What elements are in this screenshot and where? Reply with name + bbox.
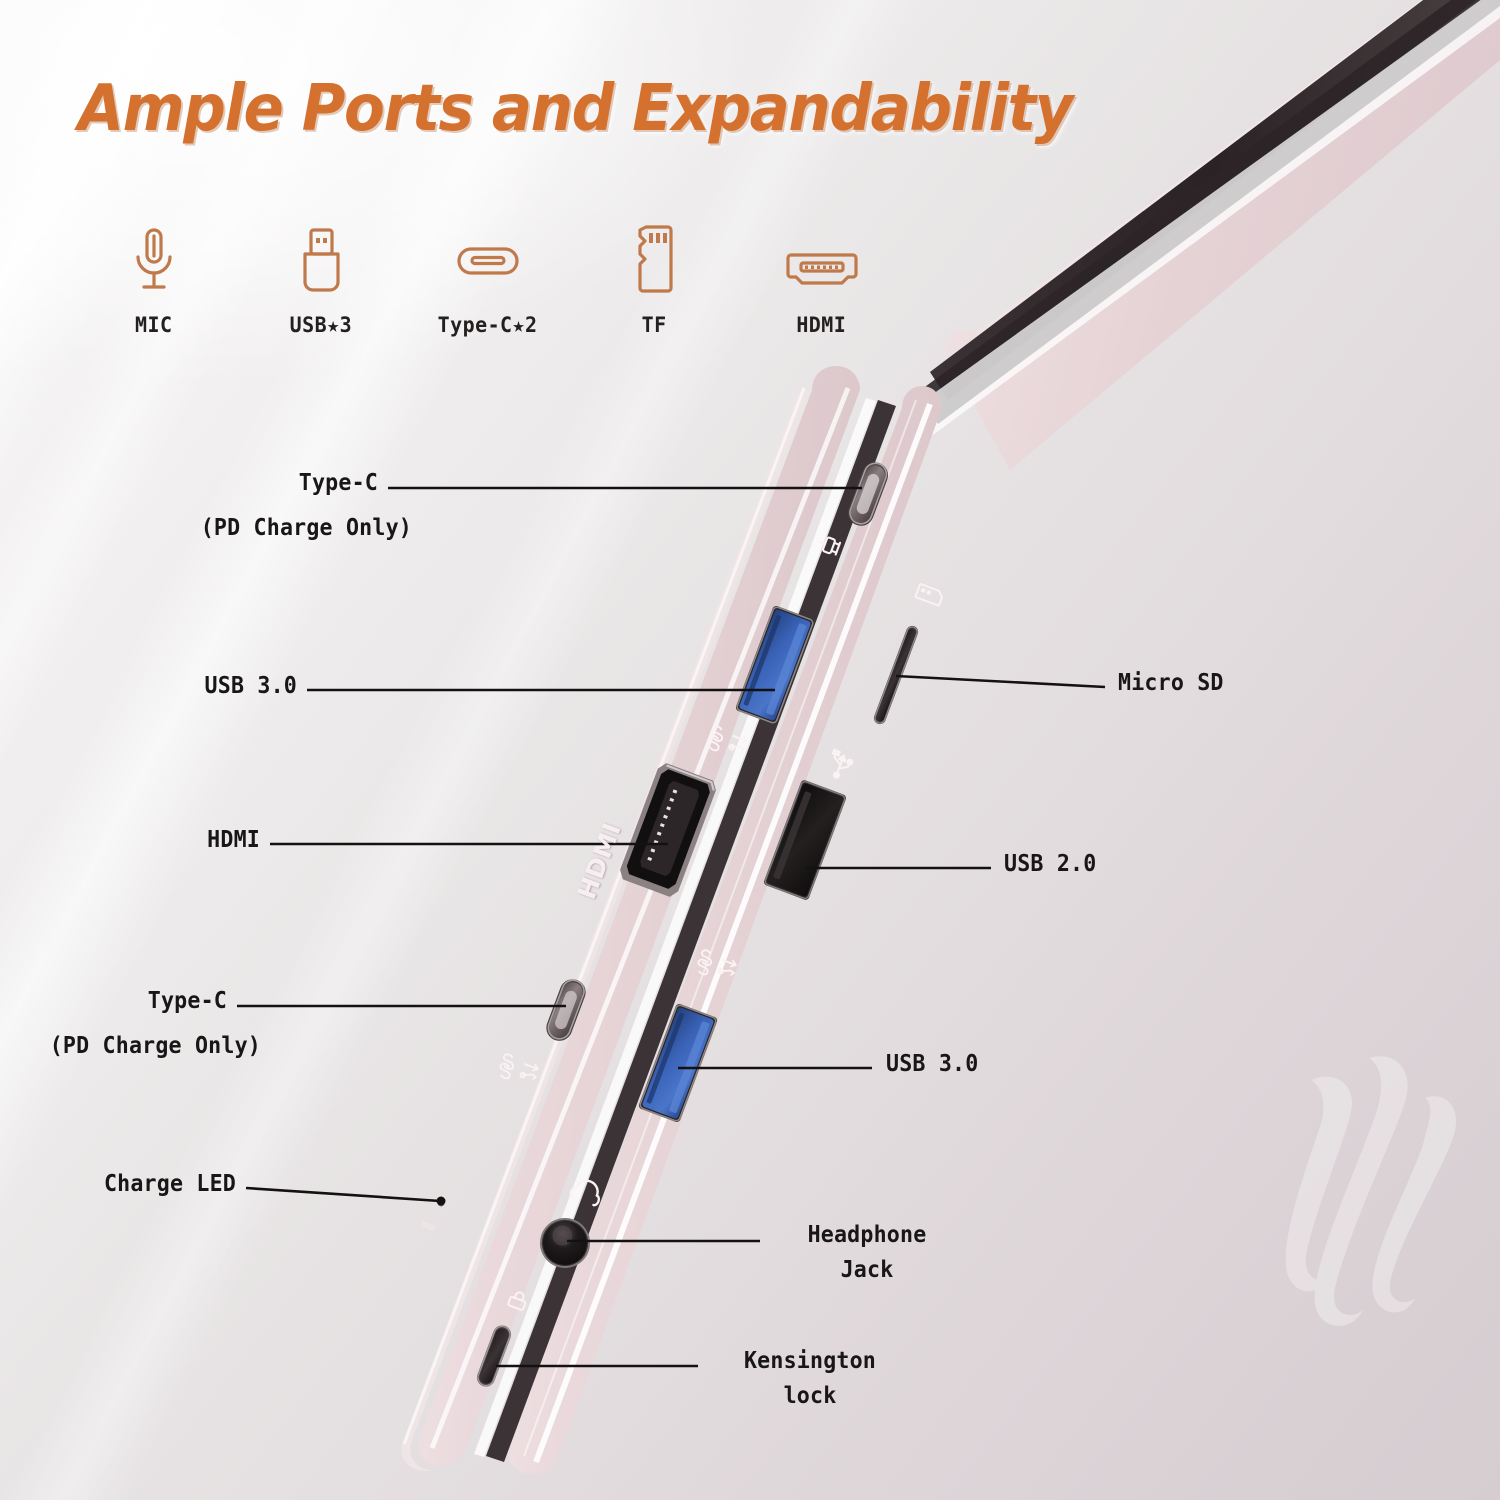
icon-cell-usb: USB★3 bbox=[237, 225, 404, 337]
callout-line-1: Type-C bbox=[14, 988, 227, 1014]
callout-micro-sd: Micro SD bbox=[1118, 670, 1230, 696]
callout-line-1: Type-C bbox=[23, 470, 378, 496]
page-title: Ample Ports and Expandability bbox=[78, 72, 1072, 146]
icon-cell-hdmi: HDMI bbox=[738, 225, 905, 337]
callout-type-c-top: Type-C (PD Charge Only) bbox=[0, 470, 378, 496]
callout-line-1: Headphone bbox=[778, 1222, 957, 1248]
callout-line-2: (PD Charge Only) bbox=[16, 1033, 261, 1059]
callout-charge-led: Charge LED bbox=[0, 1171, 236, 1197]
callout-kensington-lock: Kensington lock bbox=[710, 1348, 910, 1409]
icon-label: HDMI bbox=[797, 313, 847, 337]
icon-cell-typec: Type-C★2 bbox=[404, 225, 571, 337]
callout-hdmi: HDMI bbox=[0, 827, 260, 853]
callout-line-1: USB 2.0 bbox=[1004, 851, 1096, 877]
usb-a-icon bbox=[295, 225, 347, 293]
callout-line-1: Charge LED bbox=[14, 1171, 236, 1197]
icon-label: USB★3 bbox=[289, 313, 351, 337]
callout-line-2: (PD Charge Only) bbox=[25, 515, 412, 541]
callout-line-1: HDMI bbox=[16, 827, 260, 853]
icon-cell-mic: MIC bbox=[70, 225, 237, 337]
icon-cell-tf: TF bbox=[571, 225, 738, 337]
callout-line-2: Jack bbox=[778, 1257, 957, 1283]
tf-card-icon bbox=[633, 225, 677, 293]
icon-label: TF bbox=[642, 313, 667, 337]
callout-headphone-jack: Headphone Jack bbox=[772, 1222, 962, 1283]
callout-usb-3-top: USB 3.0 bbox=[0, 673, 297, 699]
callout-line-1: Kensington bbox=[716, 1348, 904, 1374]
callout-line-2: lock bbox=[716, 1383, 904, 1409]
port-icon-row: MIC USB★3 bbox=[70, 225, 905, 337]
icon-label: Type-C★2 bbox=[438, 313, 538, 337]
callout-line-1: USB 3.0 bbox=[886, 1051, 978, 1077]
callout-usb-2: USB 2.0 bbox=[1004, 851, 1102, 877]
icon-label: MIC bbox=[135, 313, 172, 337]
microphone-icon bbox=[131, 225, 177, 293]
callout-line-1: USB 3.0 bbox=[18, 673, 297, 699]
callout-usb-3-bottom: USB 3.0 bbox=[886, 1051, 984, 1077]
infographic-canvas: Ample Ports and Expandability MIC bbox=[0, 0, 1500, 1500]
hdmi-port-icon bbox=[786, 225, 858, 293]
callout-line-1: Micro SD bbox=[1118, 670, 1224, 696]
callout-type-c-bottom: Type-C (PD Charge Only) bbox=[0, 988, 227, 1014]
usb-type-c-icon bbox=[453, 225, 523, 293]
